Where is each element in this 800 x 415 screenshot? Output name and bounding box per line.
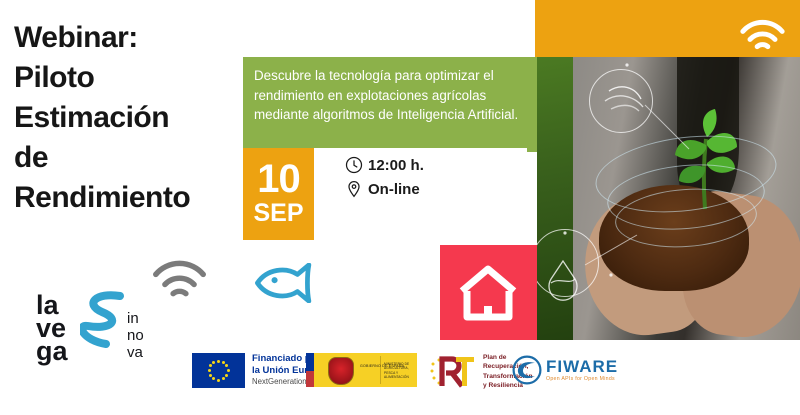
house-icon-tile: [440, 245, 535, 340]
fish-icon: [255, 263, 317, 303]
event-day: 10: [257, 160, 300, 198]
red-accent-strip: [527, 245, 537, 340]
fiware-mark-icon: [512, 355, 542, 385]
gobierno-espana-logo: GOBIERNO DE ESPAÑA MINISTERIO DE AGRICUL…: [306, 353, 417, 387]
wifi-icon: [740, 18, 785, 52]
event-time-row: 12:00 h.: [344, 155, 424, 175]
gobierno-line-2: MINISTERIO DE AGRICULTURA, PESCA Y ALIME…: [384, 362, 417, 380]
clock-icon: [344, 155, 364, 175]
hero-photo: [537, 57, 800, 340]
page-title: Webinar: Piloto Estimación de Rendimient…: [14, 18, 242, 217]
house-icon: [458, 265, 518, 321]
squiggle-icon: [80, 290, 128, 352]
gobierno-divider: [380, 356, 381, 384]
title-line-5: Rendimiento: [14, 178, 242, 218]
event-time-text: 12:00 h.: [368, 157, 424, 174]
sponsor-bar: Financiado por la Unión Europea NextGene…: [0, 348, 800, 400]
spain-coat-of-arms-icon: [328, 357, 354, 385]
gobierno-stripe: [306, 353, 314, 387]
title-line-2: Piloto: [14, 58, 242, 98]
event-month: SEP: [253, 200, 303, 228]
title-line-4: de: [14, 138, 242, 178]
fiware-name: FIWARE: [546, 358, 618, 375]
event-location-row: On-line: [344, 179, 424, 199]
event-details: 12:00 h. On-line: [344, 155, 424, 203]
title-line-1: Webinar:: [14, 18, 242, 58]
title-line-3: Estimación: [14, 98, 242, 138]
eu-flag-icon: [192, 353, 245, 388]
description-block: Descubre la tecnología para optimizar el…: [243, 57, 535, 148]
prtr-mark-icon: [428, 354, 480, 389]
green-accent-strip: [527, 57, 537, 152]
logo-word-in: in: [127, 311, 139, 326]
gobierno-card: GOBIERNO DE ESPAÑA MINISTERIO DE AGRICUL…: [306, 353, 417, 387]
event-location-text: On-line: [368, 181, 420, 198]
gobierno-eu-block: [306, 353, 314, 371]
webinar-banner: Webinar: Piloto Estimación de Rendimient…: [0, 0, 800, 415]
lavega-innova-logo[interactable]: la ve ga in no va: [14, 292, 174, 350]
logo-word-no: no: [127, 328, 144, 343]
fiware-text: FIWARE Open APIs for Open Minds: [546, 358, 618, 382]
map-pin-icon: [344, 179, 364, 199]
event-date-badge: 10 SEP: [243, 148, 314, 240]
description-text: Descubre la tecnología para optimizar el…: [254, 66, 524, 125]
fiware-tagline: Open APIs for Open Minds: [546, 377, 618, 382]
fiware-logo: FIWARE Open APIs for Open Minds: [512, 355, 618, 385]
